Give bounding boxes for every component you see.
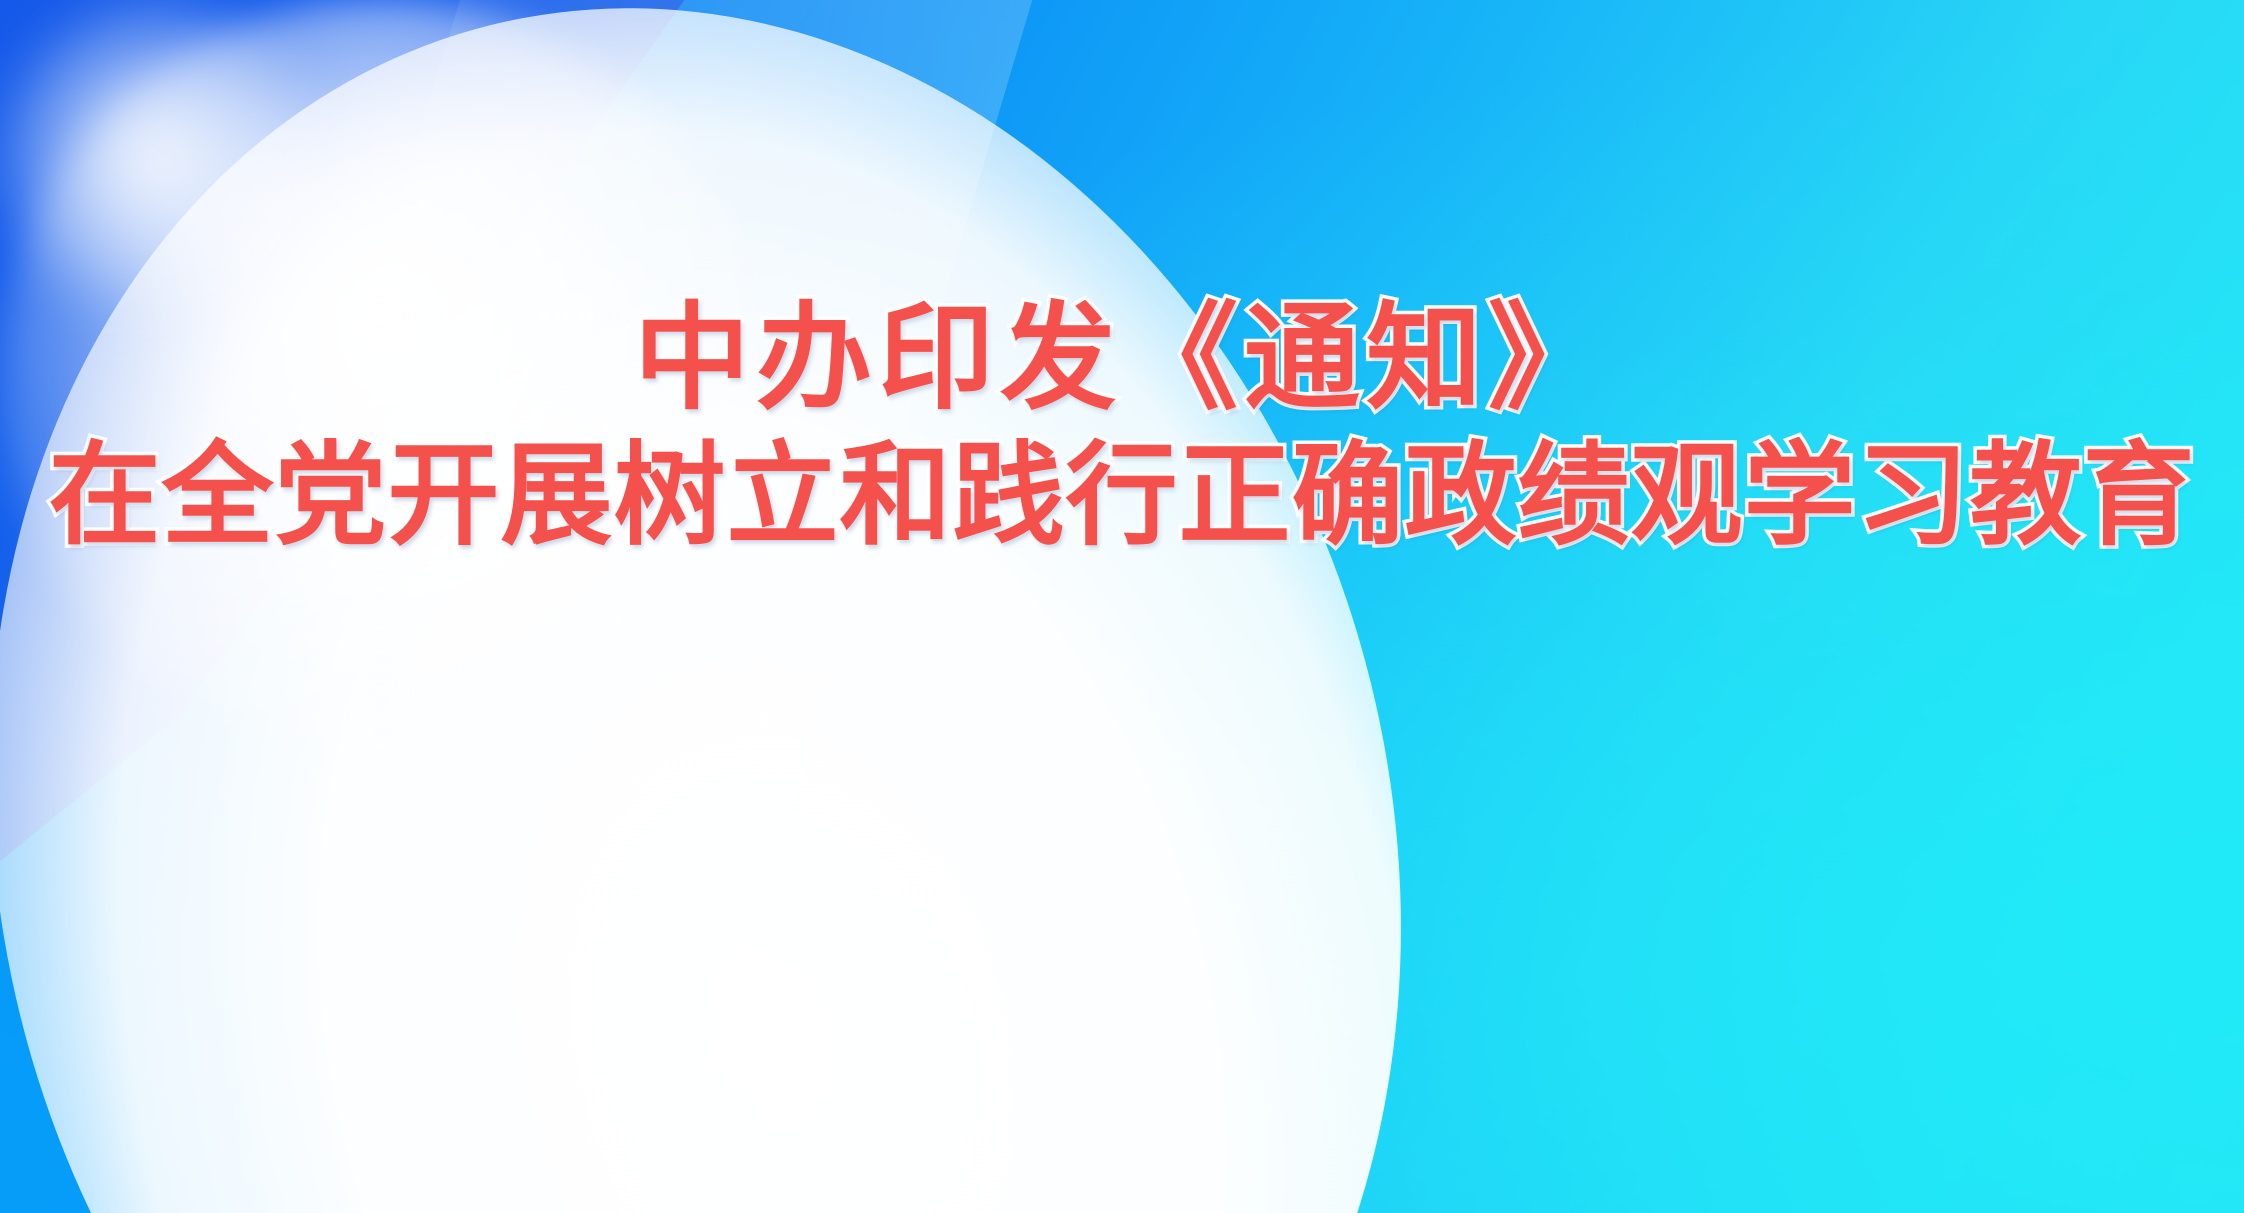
- banner-poster: 中办印发《通知》 在全党开展树立和践行正确政绩观学习教育: [0, 0, 2244, 1213]
- headline-line-1: 中办印发《通知》: [634, 294, 1610, 426]
- headline-block: 中办印发《通知》 在全党开展树立和践行正确政绩观学习教育: [0, 0, 2244, 1213]
- headline-line-2: 在全党开展树立和践行正确政绩观学习教育: [49, 434, 2196, 562]
